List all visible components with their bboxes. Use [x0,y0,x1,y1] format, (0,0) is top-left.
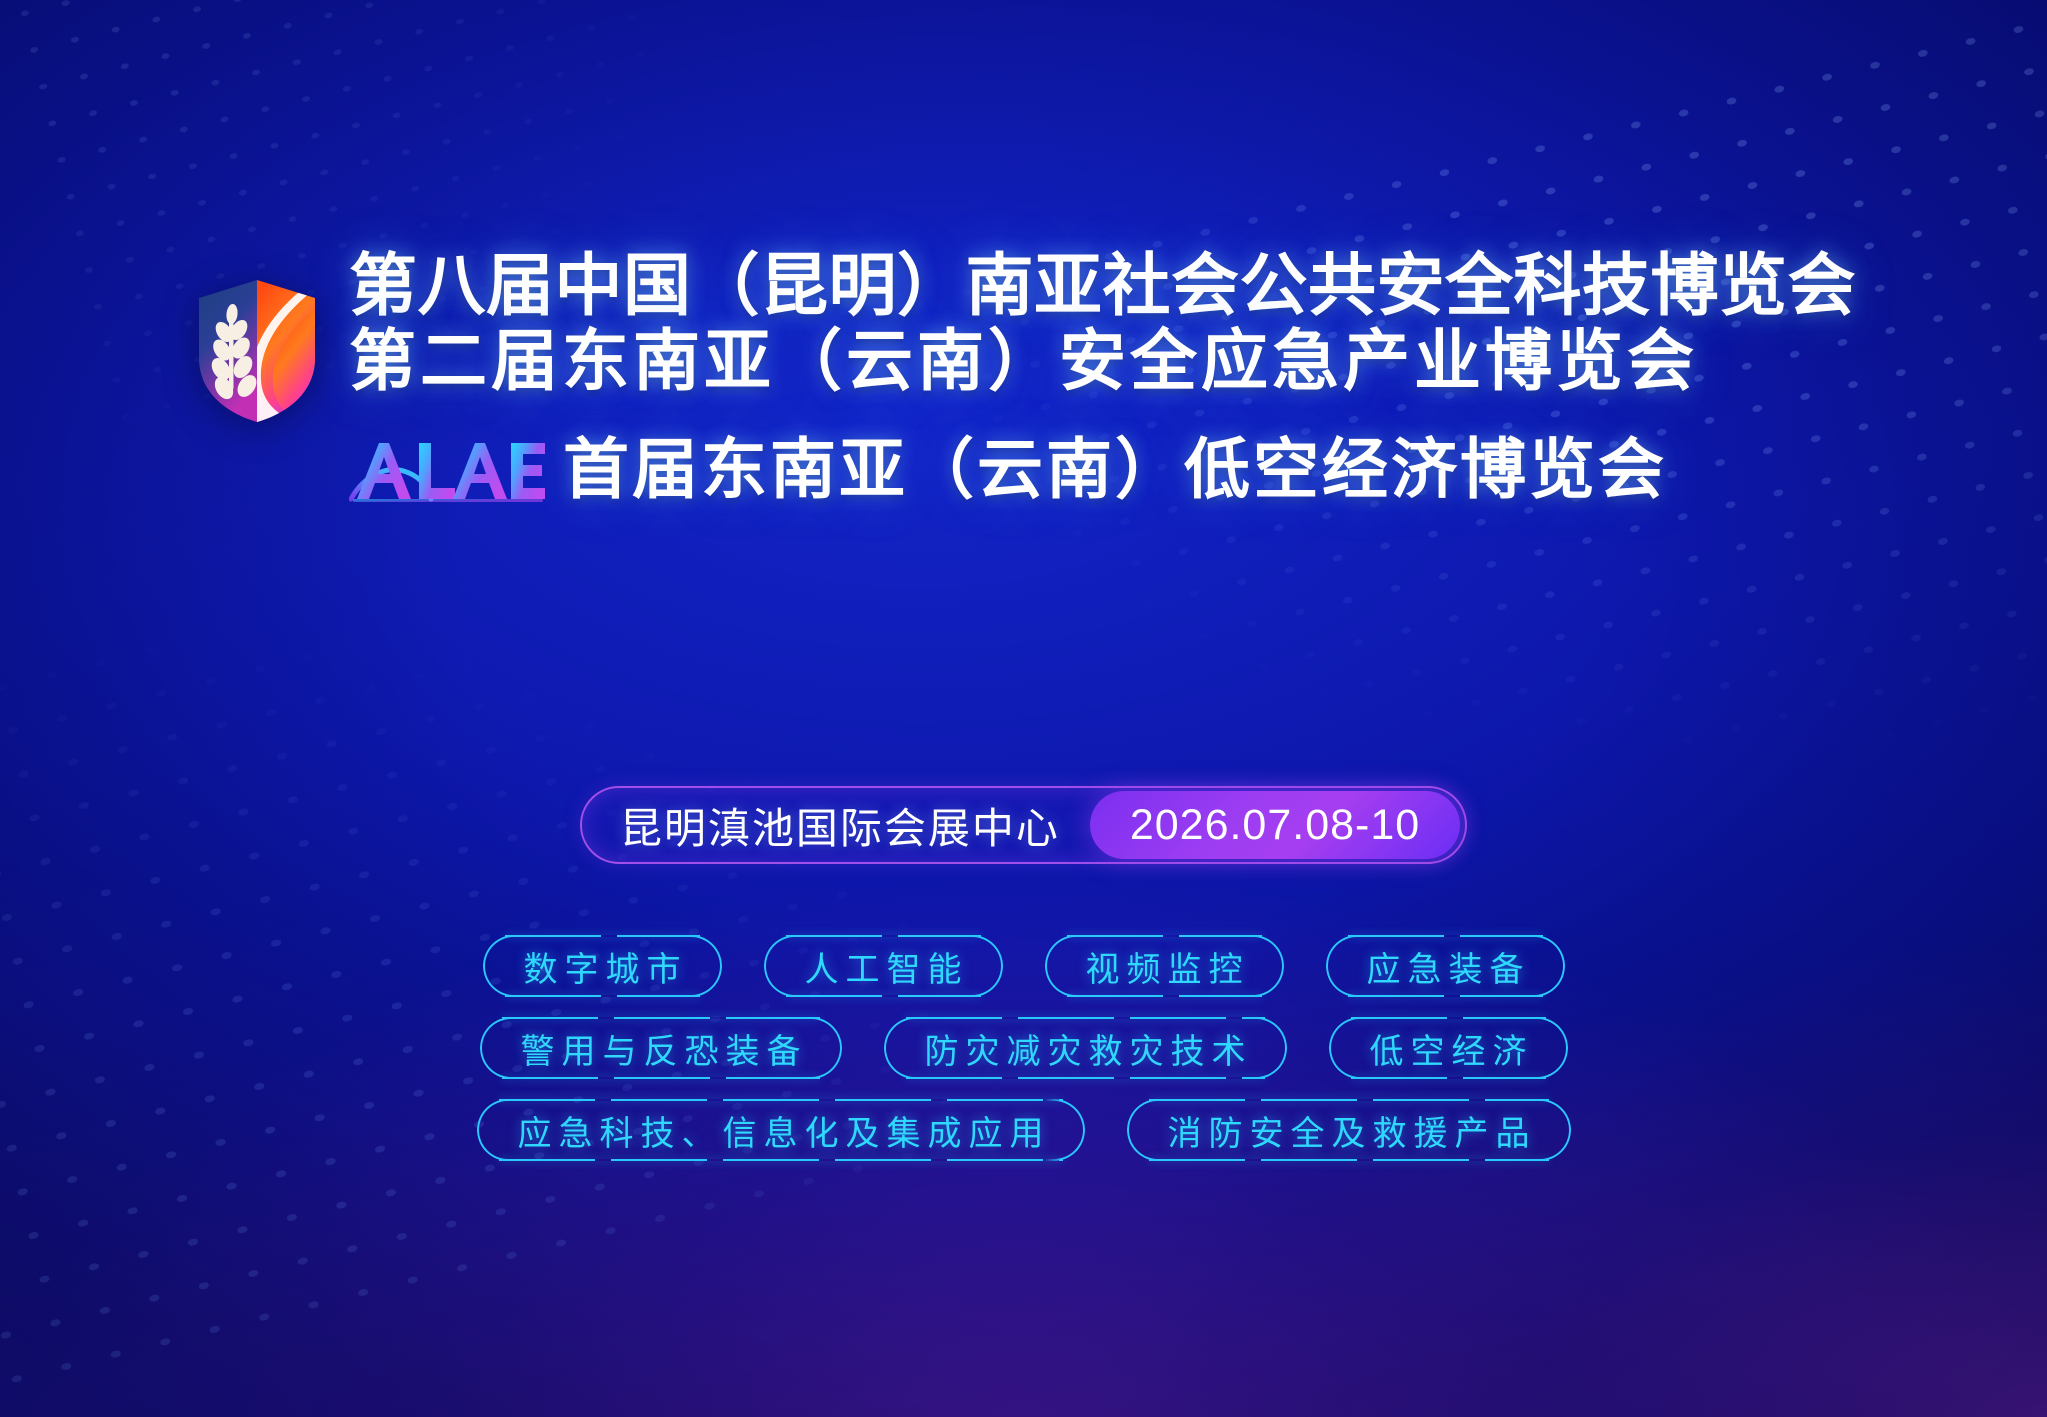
tag-rail-top [502,1017,820,1019]
topic-tag-row-2: 警用与反恐装备 防灾减灾救灾技术 低空经济 [480,1017,1568,1079]
tag-rail-top [1348,935,1543,937]
topic-tag-emergency-equipment[interactable]: 应急装备 [1326,935,1565,997]
tag-rail-top [499,1099,1063,1101]
tag-rail-bottom [1149,1159,1549,1161]
topic-tag-video-surveillance[interactable]: 视频监控 [1045,935,1284,997]
venue-name: 昆明滇池国际会展中心 [620,795,1090,856]
tag-label: 低空经济 [1363,1024,1534,1073]
tag-label: 应急装备 [1360,942,1531,991]
tag-rail-top [1149,1099,1549,1101]
title-block: 第八届中国（昆明）南亚社会公共安全科技博览会 第二届东南亚（云南）安全应急产业博… [349,248,1856,506]
tag-rail-bottom [499,1159,1063,1161]
tag-rail-top [1067,935,1262,937]
venue-pill[interactable]: 昆明滇池国际会展中心 2026.07.08-10 [580,786,1467,864]
topic-tag-emergency-tech-informatization-integration[interactable]: 应急科技、信息化及集成应用 [477,1099,1085,1161]
tag-rail-top [505,935,700,937]
tag-rail-top [786,935,981,937]
tag-label: 人工智能 [798,942,969,991]
banner-header: 第八届中国（昆明）南亚社会公共安全科技博览会 第二届东南亚（云南）安全应急产业博… [0,248,2047,506]
tag-label: 防灾减灾救灾技术 [918,1024,1253,1073]
tag-rail-bottom [502,1077,820,1079]
tag-rail-bottom [906,1077,1265,1079]
alae-wordmark-logo [349,433,545,505]
halftone-dots-top-left [0,0,2047,1417]
shield-laurel-logo-icon [191,274,323,426]
tag-label: 数字城市 [517,942,688,991]
topic-tag-row-3: 应急科技、信息化及集成应用 消防安全及救援产品 [477,1099,1571,1161]
tag-rail-bottom [1348,995,1543,997]
topic-tag-disaster-prevention-relief-technology[interactable]: 防灾减灾救灾技术 [884,1017,1287,1079]
topic-tag-fire-safety-rescue-products[interactable]: 消防安全及救援产品 [1127,1099,1571,1161]
topic-tag-artificial-intelligence[interactable]: 人工智能 [764,935,1003,997]
tag-label: 警用与反恐装备 [514,1024,808,1073]
halftone-dots-bottom-left [0,0,2047,1417]
event-date-badge: 2026.07.08-10 [1090,791,1460,859]
tag-label: 应急科技、信息化及集成应用 [511,1106,1051,1155]
title-line-2: 第二届东南亚（云南）安全应急产业博览会 [349,324,1856,399]
tag-label: 消防安全及救援产品 [1161,1106,1537,1155]
venue-row: 昆明滇池国际会展中心 2026.07.08-10 [0,786,2047,864]
title-line-1: 第八届中国（昆明）南亚社会公共安全科技博览会 [349,248,1856,324]
tag-rail-top [1351,1017,1546,1019]
title-line-3-row: 首届东南亚（云南）低空经济博览会 [349,433,1856,506]
expo-banner: 第八届中国（昆明）南亚社会公共安全科技博览会 第二届东南亚（云南）安全应急产业博… [0,0,2047,1417]
tag-rail-bottom [1067,995,1262,997]
topic-tag-list: 数字城市 人工智能 视频监控 应急装备 警用与反恐装备 [0,935,2047,1161]
tag-rail-top [906,1017,1265,1019]
background-vignette [0,0,2047,1417]
tag-rail-bottom [1351,1077,1546,1079]
halftone-dots-top-right [0,0,2047,1417]
topic-tag-digital-city[interactable]: 数字城市 [483,935,722,997]
topic-tag-row-1: 数字城市 人工智能 视频监控 应急装备 [483,935,1565,997]
topic-tag-police-antiterror-equipment[interactable]: 警用与反恐装备 [480,1017,842,1079]
tag-rail-bottom [505,995,700,997]
tag-rail-bottom [786,995,981,997]
topic-tag-low-altitude-economy[interactable]: 低空经济 [1329,1017,1568,1079]
title-line-3: 首届东南亚（云南）低空经济博览会 [563,433,1667,506]
tag-label: 视频监控 [1079,942,1250,991]
